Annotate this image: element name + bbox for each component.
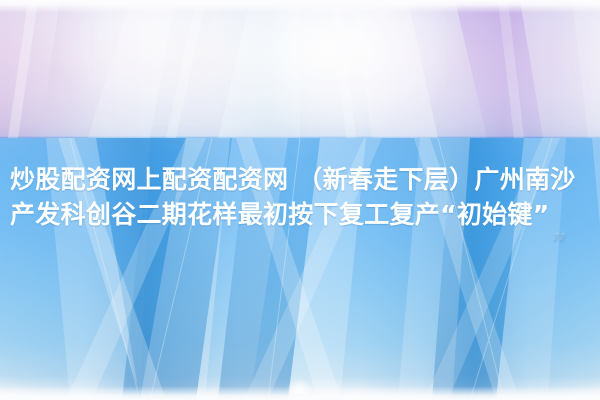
banner-canvas: 炒股配资网上配资配资网 （新春走下层）广州南沙产发科创谷二期花样最初按下复工复产… [0, 0, 600, 400]
banner-headline: 炒股配资网上配资配资网 （新春走下层）广州南沙产发科创谷二期花样最初按下复工复产… [0, 162, 600, 252]
top-edge-fade [0, 0, 600, 13]
banner-headline-text: 炒股配资网上配资配资网 （新春走下层）广州南沙产发科创谷二期花样最初按下复工复产… [10, 165, 576, 229]
bottom-light-flare [286, 378, 312, 394]
banner-headline-overflow-mark: ” [10, 232, 590, 252]
